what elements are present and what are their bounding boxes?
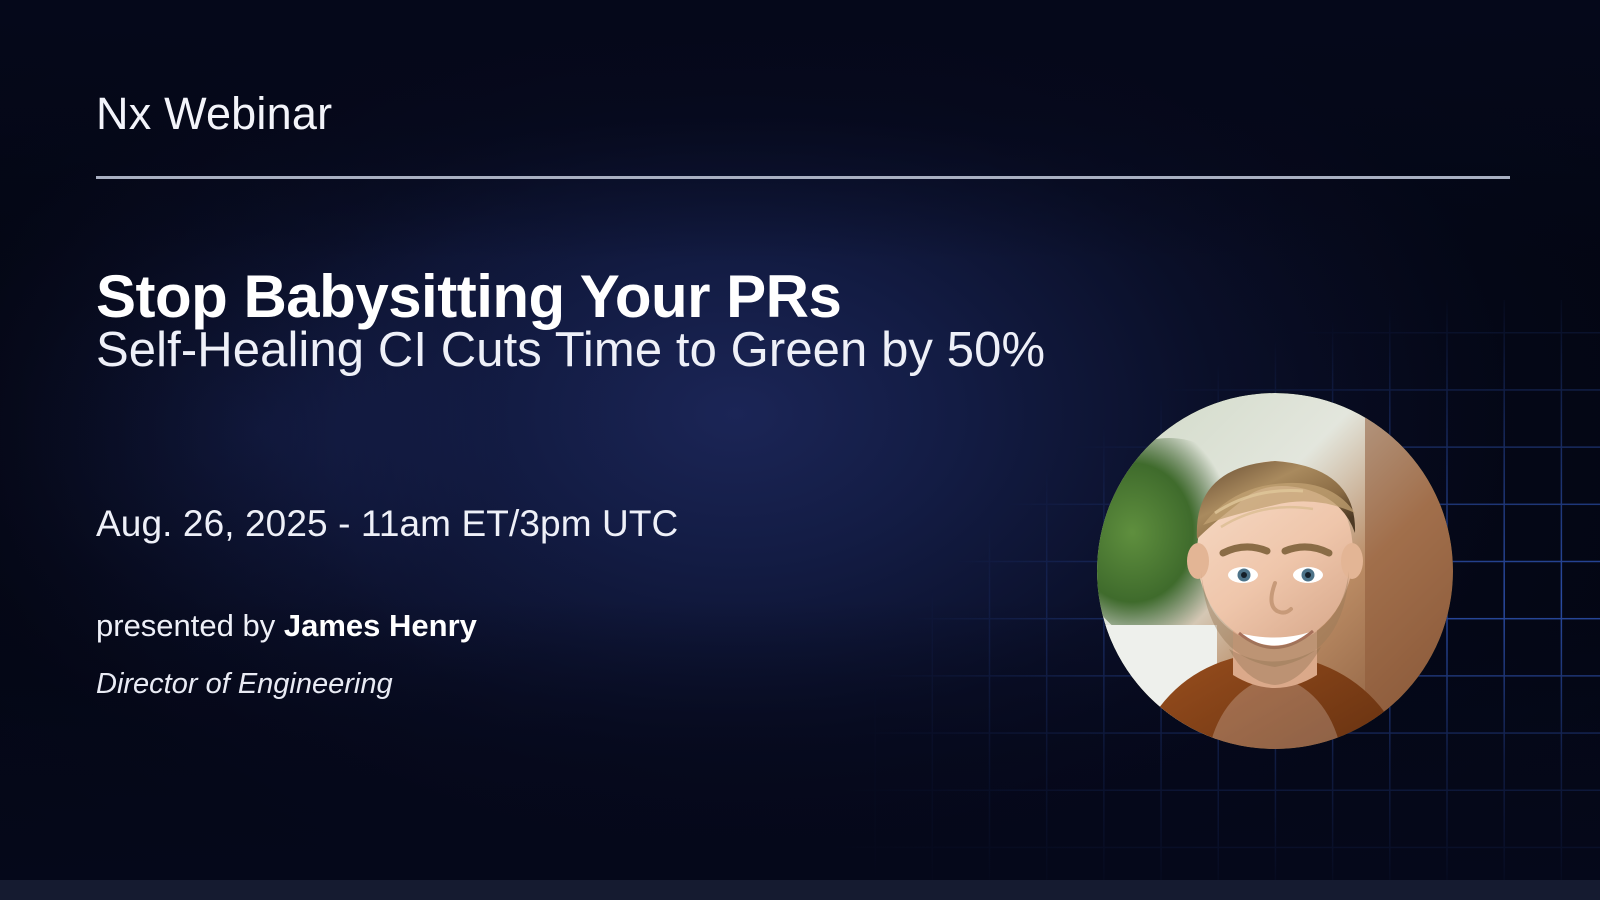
presenter-line: presented by James Henry <box>96 608 477 644</box>
avatar <box>1097 393 1453 749</box>
speaker-name: James Henry <box>284 608 477 643</box>
speaker-role: Director of Engineering <box>96 668 393 701</box>
speaker-headshot-icon <box>1097 393 1453 749</box>
webinar-datetime: Aug. 26, 2025 - 11am ET/3pm UTC <box>96 503 678 545</box>
page-subtitle: Self-Healing CI Cuts Time to Green by 50… <box>96 313 1096 387</box>
eyebrow-label: Nx Webinar <box>96 88 332 140</box>
webinar-promo-card: Nx Webinar Stop Babysitting Your PRs Sel… <box>0 0 1600 900</box>
header-divider <box>96 176 1510 179</box>
footer-bar <box>0 880 1600 900</box>
presented-by-label: presented by <box>96 608 284 643</box>
